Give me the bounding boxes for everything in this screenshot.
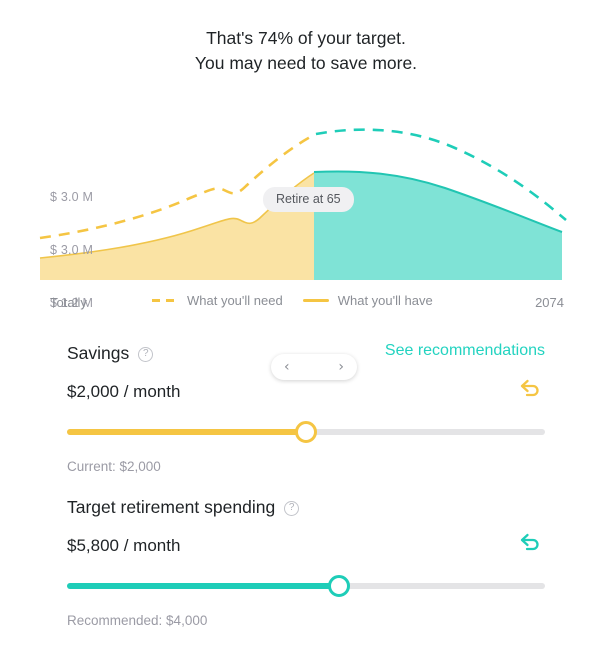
y-axis-label-2: $ 3.0 M (50, 243, 93, 257)
savings-section: Savings ? See recommendations $2,000 / m… (67, 340, 545, 474)
target-spending-slider-fill (67, 583, 339, 589)
savings-title: Savings (67, 343, 129, 364)
target-spending-recommended-note: Recommended: $4,000 (67, 613, 545, 628)
retirement-planner-panel: That's 74% of your target. You may need … (0, 0, 612, 650)
savings-slider-thumb[interactable] (295, 421, 317, 443)
savings-header: Savings ? See recommendations (67, 340, 545, 366)
savings-value-row: $2,000 / month (67, 377, 545, 407)
savings-current-note: Current: $2,000 (67, 459, 545, 474)
undo-icon[interactable] (517, 377, 543, 401)
savings-value: $2,000 / month (67, 382, 180, 402)
legend-item-have: What you'll have (303, 293, 433, 308)
headline-line-2: You may need to save more. (0, 51, 612, 76)
see-recommendations-link[interactable]: See recommendations (385, 342, 545, 360)
legend-items: What you'll need What you'll have (152, 293, 433, 308)
x-axis-end-label: 2074 (535, 295, 564, 310)
have-area-post-retirement (314, 171, 562, 280)
target-spending-title: Target retirement spending (67, 497, 275, 518)
dashed-line-swatch-icon (152, 299, 178, 302)
target-spending-section: Target retirement spending ? $5,800 / mo… (67, 494, 545, 628)
savings-slider-fill (67, 429, 306, 435)
headline: That's 74% of your target. You may need … (0, 26, 612, 76)
undo-icon[interactable] (517, 531, 543, 555)
chart-legend: Totally What you'll need What you'll hav… (0, 293, 612, 315)
help-icon[interactable]: ? (138, 347, 153, 362)
projection-chart: $ 3.0 M $ 3.0 M $ 1.2 M Retire at 65 ‹ › (0, 90, 612, 290)
legend-label-have: What you'll have (338, 293, 433, 308)
help-icon[interactable]: ? (284, 501, 299, 516)
legend-item-need: What you'll need (152, 293, 283, 308)
legend-label-need: What you'll need (187, 293, 283, 308)
savings-slider[interactable] (67, 421, 545, 443)
target-spending-value: $5,800 / month (67, 536, 180, 556)
target-spending-value-row: $5,800 / month (67, 531, 545, 561)
headline-line-1: That's 74% of your target. (0, 26, 612, 51)
y-axis-label-1: $ 3.0 M (50, 190, 93, 204)
target-spending-slider-thumb[interactable] (328, 575, 350, 597)
solid-line-swatch-icon (303, 299, 329, 302)
retire-at-marker[interactable]: Retire at 65 (263, 187, 354, 212)
x-axis-start-label: Totally (50, 295, 87, 310)
target-spending-header: Target retirement spending ? (67, 494, 545, 520)
target-spending-slider[interactable] (67, 575, 545, 597)
